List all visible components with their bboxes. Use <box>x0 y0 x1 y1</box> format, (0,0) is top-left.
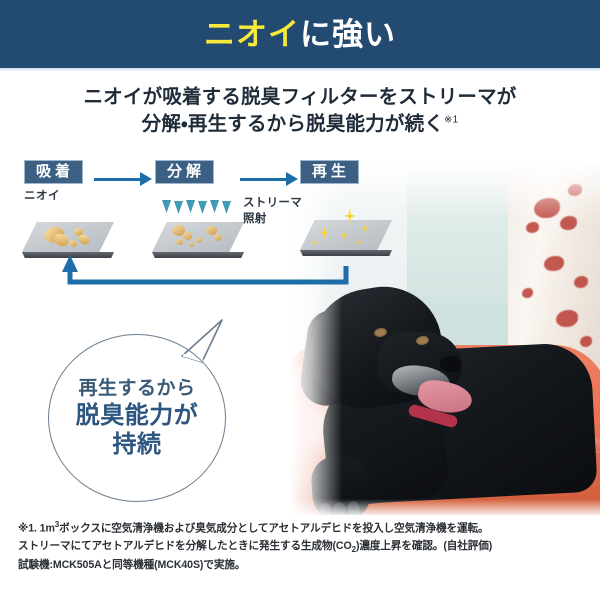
footnote-line-1-a: ※1. 1m <box>18 523 55 535</box>
arrow-decompose-to-regenerate <box>240 172 298 186</box>
subtitle-line-2-wrap: 分解・再生するから脱臭能力が続く※1 <box>0 111 600 138</box>
odor-molecule <box>69 240 77 247</box>
arrow-adsorb-to-decompose <box>94 172 152 186</box>
page-title-highlight: ニオイ <box>204 17 300 52</box>
process-diagram: 吸着 ニオイ 分解 再生 ストリーマ 照射 <box>0 160 600 290</box>
bubble-line-3: 持続 <box>113 430 162 459</box>
odor-fragment <box>214 234 222 241</box>
header-underline <box>0 68 600 71</box>
footnote-line-1: ※1. 1m3ボックスに空気清浄機および臭気成分としてアセトアルデヒドを投入し空… <box>18 519 586 538</box>
subtitle-line-2: 分解・再生するから脱臭能力が続く <box>142 113 444 135</box>
subtitle-footnote-mark: ※1 <box>444 114 458 125</box>
footnote-line-2-a: ストリーマにてアセトアルデヒドを分解したときに発生する生成物(CO <box>18 540 352 552</box>
step-adsorb-caption: ニオイ <box>24 187 144 203</box>
footnote-line-2-b: )濃度上昇を確認。(自社評価) <box>356 540 492 552</box>
step-decompose-badge: 分解 <box>155 160 214 184</box>
footnote-line-2: ストリーマにてアセトアルデヒドを分解したときに発生する生成物(CO2)濃度上昇を… <box>18 538 586 557</box>
footnote-line-3: 試験機:MCK505Aと同等機種(MCK40S)で実施。 <box>18 557 586 574</box>
streamer-label: ストリーマ 照射 <box>243 196 302 227</box>
step-regenerate: 再生 <box>300 160 420 184</box>
filter-plate-adsorb <box>22 222 114 262</box>
footnote-line-1-b: ボックスに空気清浄機および臭気成分としてアセトアルデヒドを投入し空気清浄機を運転… <box>59 523 488 535</box>
odor-fragment <box>196 237 202 243</box>
odor-fragment <box>189 242 194 247</box>
photo-fade-bottom <box>288 499 600 515</box>
footnote: ※1. 1m3ボックスに空気清浄機および臭気成分としてアセトアルデヒドを投入し空… <box>18 519 586 574</box>
page-title: ニオイに強い <box>204 19 396 50</box>
odor-fragment <box>183 232 192 240</box>
streamer-rays <box>162 200 242 216</box>
odor-fragment <box>176 239 183 245</box>
filter-plate-decompose <box>152 222 244 262</box>
subtitle-line-1: ニオイが吸着する脱臭フィルターをストリーマが <box>0 84 600 111</box>
bubble-line-1: 再生するから <box>78 377 195 401</box>
streamer-label-line-1: ストリーマ <box>243 196 302 212</box>
promo-panel: ニオイに強い ニオイが吸着する脱臭フィルターをストリーマが 分解・再生するから脱… <box>0 0 600 600</box>
header-band: ニオイに強い <box>0 0 600 68</box>
step-regenerate-badge: 再生 <box>300 160 359 184</box>
step-adsorb-badge: 吸着 <box>24 160 83 184</box>
bubble-line-2: 脱臭能力が <box>76 401 199 430</box>
streamer-label-line-2: 照射 <box>243 212 302 228</box>
speech-bubble: 再生するから 脱臭能力が 持続 <box>48 334 226 502</box>
page-title-rest: に強い <box>300 17 396 52</box>
subtitle: ニオイが吸着する脱臭フィルターをストリーマが 分解・再生するから脱臭能力が続く※… <box>0 84 600 138</box>
filter-plate-regenerate <box>300 220 392 260</box>
